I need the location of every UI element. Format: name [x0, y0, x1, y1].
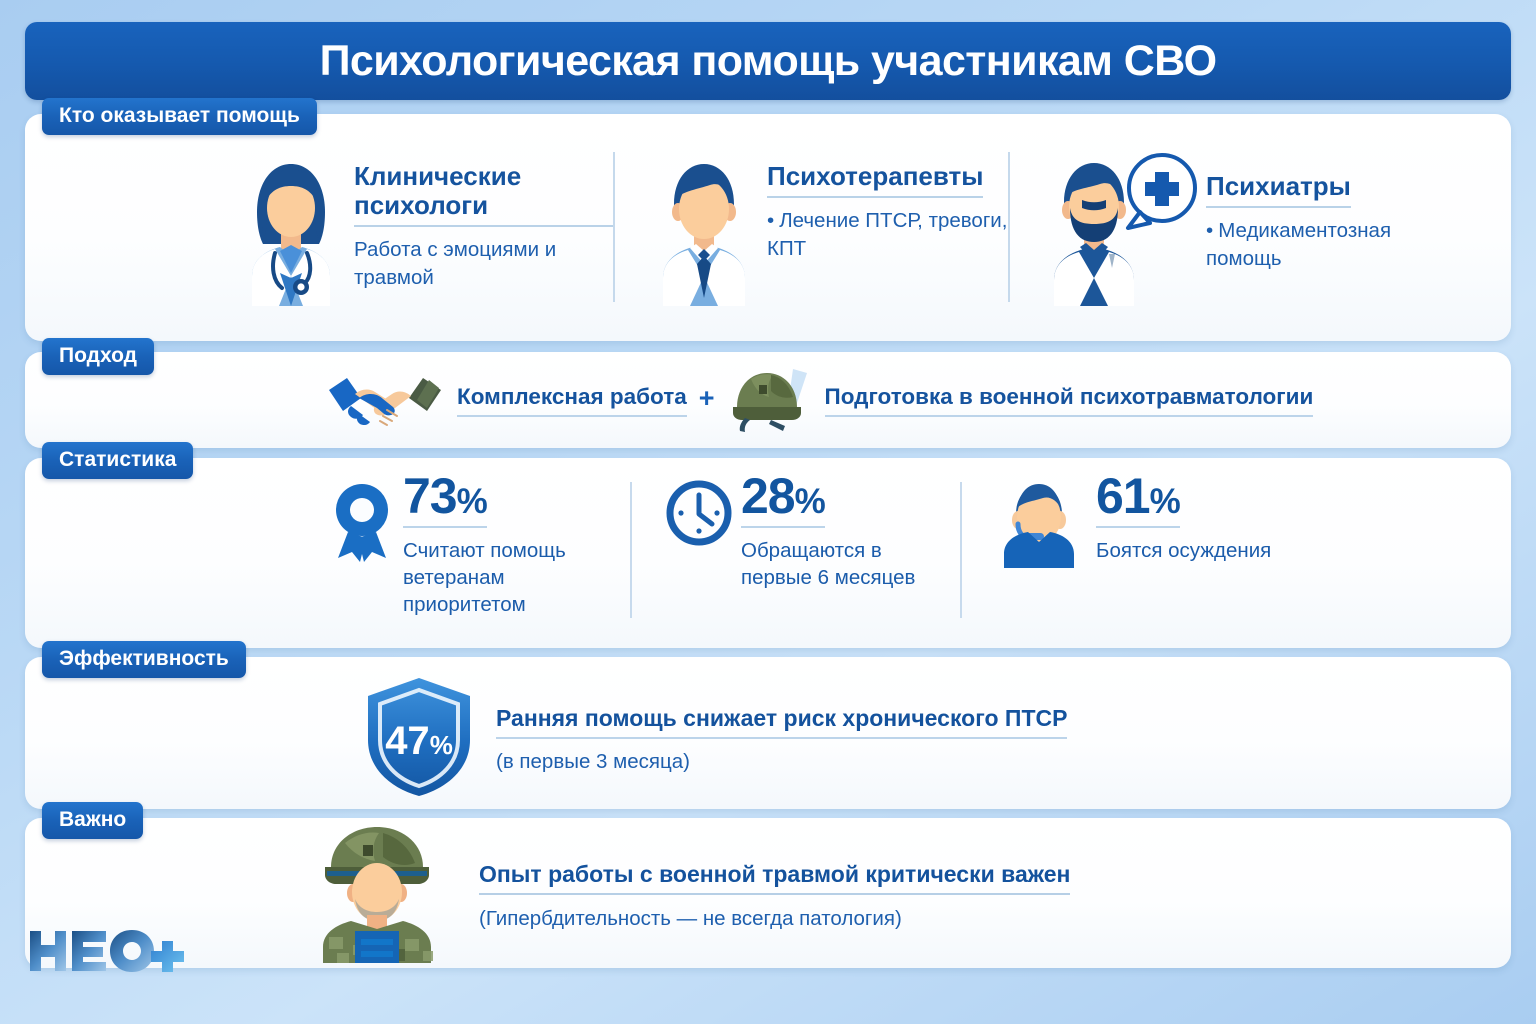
soldier-icon	[297, 819, 457, 968]
provider-item-psychiatrists: Психиатры •Медикаментозная помощь	[1008, 146, 1428, 331]
provider-title: Клинические психологи	[354, 162, 613, 227]
stat-item-first-six-months: 28% Обращаются в первые 6 месяцев	[630, 472, 960, 632]
effectiveness-text: Ранняя помощь снижает риск хронического …	[496, 705, 1067, 774]
stat-value: 73%	[403, 472, 487, 528]
award-ribbon-icon	[330, 480, 394, 581]
statistics-row: 73% Считают помощь ветеранам приоритетом	[25, 472, 1511, 648]
provider-text: Психиатры •Медикаментозная помощь	[1206, 146, 1428, 272]
badge-providers: Кто оказывает помощь	[42, 98, 317, 135]
important-text: Опыт работы с военной травмой критически…	[479, 861, 1070, 931]
statistics-card: Статистика 73% Считают помощь ветеранам …	[25, 458, 1511, 648]
vertical-divider	[613, 152, 615, 302]
stat-text: 73% Считают помощь ветеранам приоритетом	[403, 472, 578, 618]
stat-caption: Обращаются в первые 6 месяцев	[741, 537, 936, 591]
stat-caption: Считают помощь ветеранам приоритетом	[403, 537, 578, 618]
approach-right-text: Подготовка в военной психотравматологии	[825, 384, 1314, 417]
bullet-dot: •	[767, 209, 774, 232]
provider-text: Психотерапевты •Лечение ПТСР, тревоги, К…	[767, 146, 1008, 262]
bullet-dot: •	[1206, 219, 1213, 242]
stat-item-fear-judgement: 61% Боятся осуждения	[960, 472, 1310, 632]
effectiveness-row: 47% Ранняя помощь снижает риск хроническ…	[25, 679, 1511, 799]
clock-icon	[666, 480, 732, 551]
providers-list: Клинические психологи Работа с эмоциями …	[25, 146, 1511, 331]
stat-caption: Боятся осуждения	[1096, 537, 1271, 564]
approach-left-text: Комплексная работа	[457, 384, 687, 417]
page-title: Психологическая помощь участникам СВО	[320, 40, 1217, 83]
badge-effectiveness: Эффективность	[42, 641, 246, 678]
stat-text: 61% Боятся осуждения	[1096, 472, 1271, 564]
provider-item-psychotherapists: Психотерапевты •Лечение ПТСР, тревоги, К…	[613, 146, 1008, 331]
provider-detail: Работа с эмоциями и травмой	[354, 236, 613, 291]
providers-card: Кто оказывает помощь	[25, 114, 1511, 341]
provider-title: Психиатры	[1206, 172, 1351, 208]
infographic-page: Психологическая помощь участникам СВО Кт…	[0, 0, 1536, 1024]
shield-icon: 47%	[360, 674, 478, 805]
provider-text: Клинические психологи Работа с эмоциями …	[354, 146, 613, 291]
male-psychotherapist-icon	[641, 146, 767, 306]
important-row: Опыт работы с военной травмой критически…	[25, 818, 1511, 968]
effectiveness-headline: Ранняя помощь снижает риск хронического …	[496, 705, 1067, 739]
stat-value: 61%	[1096, 472, 1180, 528]
neo-plus-logo	[26, 925, 186, 977]
approach-card: Подход	[25, 352, 1511, 448]
effectiveness-card: Эффективность 47% Ранн	[25, 657, 1511, 809]
effectiveness-subline: (в первые 3 месяца)	[496, 750, 1067, 774]
provider-detail: •Медикаментозная помощь	[1206, 217, 1428, 272]
military-helmet-icon	[727, 363, 813, 438]
stat-text: 28% Обращаются в первые 6 месяцев	[741, 472, 936, 591]
provider-detail: •Лечение ПТСР, тревоги, КПТ	[767, 207, 1008, 262]
important-card: Важно	[25, 818, 1511, 968]
plus-sign: +	[699, 383, 715, 418]
stat-value: 28%	[741, 472, 825, 528]
provider-title: Психотерапевты	[767, 162, 983, 198]
bearded-psychiatrist-icon	[1036, 146, 1206, 306]
important-subline: (Гипербдительность — не всегда патология…	[479, 907, 1070, 931]
person-headset-icon	[996, 474, 1082, 573]
important-headline: Опыт работы с военной травмой критически…	[479, 861, 1070, 895]
provider-item-clinical-psychologists: Клинические психологи Работа с эмоциями …	[228, 146, 613, 331]
stat-item-priority: 73% Считают помощь ветеранам приоритетом	[330, 472, 630, 632]
approach-row: Комплексная работа + Подготовка в военно…	[25, 352, 1511, 448]
vertical-divider	[630, 482, 632, 618]
page-title-bar: Психологическая помощь участникам СВО	[25, 22, 1511, 100]
handshake-icon	[325, 362, 445, 439]
vertical-divider	[1008, 152, 1010, 302]
vertical-divider	[960, 482, 962, 618]
female-clinical-psychologist-icon	[228, 146, 354, 306]
